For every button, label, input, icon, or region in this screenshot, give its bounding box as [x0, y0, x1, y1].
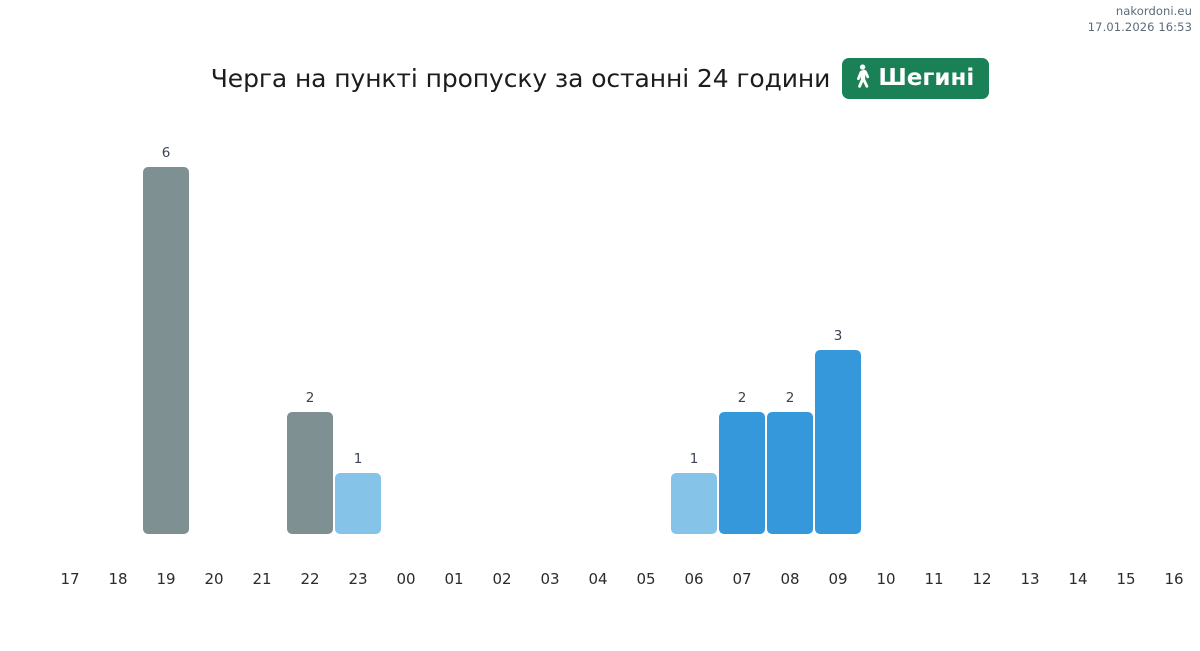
bar-23[interactable]: [335, 473, 381, 534]
x-axis-tick-03: 03: [526, 570, 574, 588]
bar-value-label-07: 2: [719, 390, 765, 406]
bar-19[interactable]: [143, 167, 189, 534]
x-axis-tick-12: 12: [958, 570, 1006, 588]
x-axis-tick-14: 14: [1054, 570, 1102, 588]
bar-value-label-19: 6: [143, 145, 189, 161]
x-axis-tick-02: 02: [478, 570, 526, 588]
x-axis-tick-22: 22: [286, 570, 334, 588]
x-axis-tick-01: 01: [430, 570, 478, 588]
x-axis-tick-11: 11: [910, 570, 958, 588]
x-axis-tick-04: 04: [574, 570, 622, 588]
bar-08[interactable]: [767, 412, 813, 534]
bar-value-label-08: 2: [767, 390, 813, 406]
bar-07[interactable]: [719, 412, 765, 534]
x-axis-tick-07: 07: [718, 570, 766, 588]
watermark-site: nakordoni.eu: [1088, 4, 1192, 20]
bar-22[interactable]: [287, 412, 333, 534]
x-axis-tick-09: 09: [814, 570, 862, 588]
bar-06[interactable]: [671, 473, 717, 534]
bar-value-label-22: 2: [287, 390, 333, 406]
border-point-badge[interactable]: Шегині: [842, 58, 989, 99]
x-axis-tick-21: 21: [238, 570, 286, 588]
bar-value-label-09: 3: [815, 328, 861, 344]
x-axis-tick-16: 16: [1150, 570, 1198, 588]
bar-09[interactable]: [815, 350, 861, 534]
chart-header: Черга на пункті пропуску за останні 24 г…: [0, 58, 1200, 99]
x-axis-tick-15: 15: [1102, 570, 1150, 588]
x-axis-tick-13: 13: [1006, 570, 1054, 588]
watermark-timestamp: 17.01.2026 16:53: [1088, 20, 1192, 36]
bar-chart-plot-area: 6211223: [46, 130, 1154, 534]
x-axis-tick-08: 08: [766, 570, 814, 588]
border-point-name: Шегині: [878, 67, 974, 90]
x-axis-tick-18: 18: [94, 570, 142, 588]
pedestrian-walk-icon: [854, 64, 871, 92]
watermark: nakordoni.eu 17.01.2026 16:53: [1088, 4, 1192, 35]
x-axis-tick-05: 05: [622, 570, 670, 588]
x-axis-tick-23: 23: [334, 570, 382, 588]
x-axis-tick-20: 20: [190, 570, 238, 588]
x-axis-tick-06: 06: [670, 570, 718, 588]
x-axis-tick-19: 19: [142, 570, 190, 588]
page-title: Черга на пункті пропуску за останні 24 г…: [211, 64, 831, 93]
x-axis-tick-10: 10: [862, 570, 910, 588]
x-axis-tick-17: 17: [46, 570, 94, 588]
x-axis-tick-00: 00: [382, 570, 430, 588]
x-axis: 1718192021222300010203040506070809101112…: [46, 570, 1154, 596]
bar-value-label-23: 1: [335, 451, 381, 467]
bar-value-label-06: 1: [671, 451, 717, 467]
